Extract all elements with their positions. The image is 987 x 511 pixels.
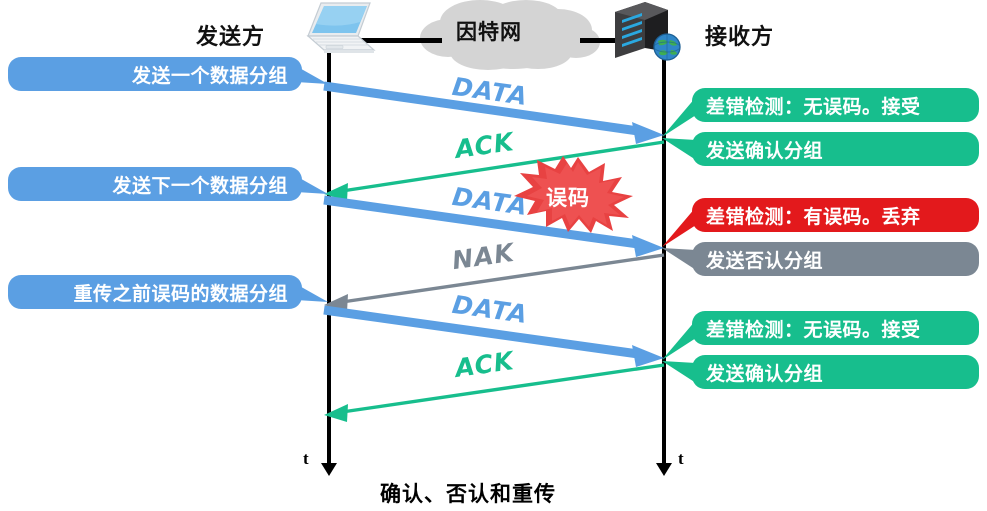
receiver-event-bubble-tail-3 bbox=[662, 207, 696, 249]
sender-label: 发送方 bbox=[196, 19, 265, 51]
receiver-event-label-3: 差错检测：有误码。丢弃 bbox=[706, 202, 921, 229]
receiver-event-bubble-tail-4 bbox=[662, 244, 696, 278]
receiver-event-bubble-5[interactable]: 差错检测：无误码。接受 bbox=[692, 311, 979, 345]
receiver-event-label-2: 发送确认分组 bbox=[706, 136, 823, 163]
receiver-label: 接收方 bbox=[705, 19, 774, 51]
receiver-event-bubble-4[interactable]: 发送否认分组 bbox=[692, 242, 979, 276]
server-icon bbox=[602, 0, 688, 62]
receiver-event-bubble-1[interactable]: 差错检测：无误码。接受 bbox=[692, 88, 979, 122]
sender-event-label-3: 重传之前误码的数据分组 bbox=[73, 279, 288, 306]
receiver-timeline-arrowhead bbox=[653, 455, 675, 477]
receiver-event-label-6: 发送确认分组 bbox=[706, 359, 823, 386]
receiver-event-bubble-3[interactable]: 差错检测：有误码。丢弃 bbox=[692, 198, 979, 232]
receiver-event-bubble-tail-5 bbox=[662, 320, 696, 362]
receiver-event-bubble-tail-1 bbox=[662, 97, 696, 139]
receiver-event-bubble-tail-6 bbox=[662, 357, 696, 391]
receiver-event-bubble-6[interactable]: 发送确认分组 bbox=[692, 355, 979, 389]
receiver-event-label-5: 差错检测：无误码。接受 bbox=[706, 315, 921, 342]
sender-event-bubble-2[interactable]: 发送下一个数据分组 bbox=[8, 167, 302, 201]
bit-error-burst-label: 误码 bbox=[546, 182, 590, 212]
sender-event-bubble-3[interactable]: 重传之前误码的数据分组 bbox=[8, 275, 302, 309]
receiver-event-label-1: 差错检测：无误码。接受 bbox=[706, 92, 921, 119]
sender-timeline-arrowhead bbox=[318, 455, 340, 477]
sender-event-label-1: 发送一个数据分组 bbox=[132, 61, 288, 88]
receiver-event-bubble-2[interactable]: 发送确认分组 bbox=[692, 132, 979, 166]
sender-time-axis-label: t bbox=[303, 449, 309, 469]
network-cloud-label: 因特网 bbox=[456, 16, 522, 46]
diagram-canvas: 因特网 bbox=[0, 0, 987, 511]
sender-event-bubble-1[interactable]: 发送一个数据分组 bbox=[8, 57, 302, 91]
receiver-event-bubble-tail-2 bbox=[662, 134, 696, 168]
sender-event-label-2: 发送下一个数据分组 bbox=[112, 171, 288, 198]
receiver-event-label-4: 发送否认分组 bbox=[706, 246, 823, 273]
laptop-icon bbox=[286, 0, 378, 58]
receiver-time-axis-label: t bbox=[678, 449, 684, 469]
figure-caption: 确认、否认和重传 bbox=[380, 478, 556, 508]
